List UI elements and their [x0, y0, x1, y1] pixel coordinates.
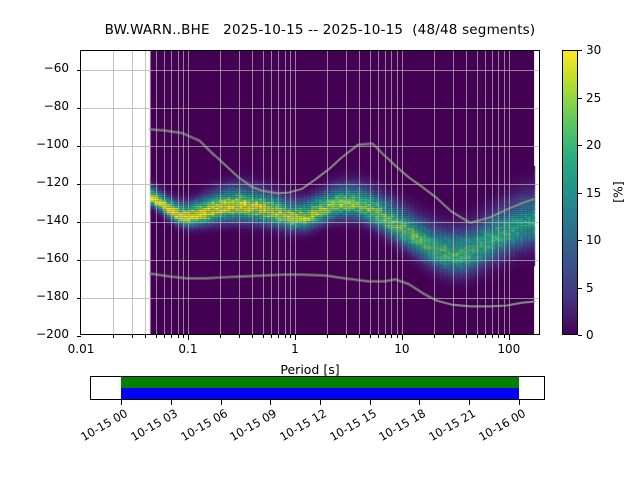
x-gridline [453, 51, 454, 334]
x-axis-tick [113, 334, 114, 338]
x-axis-tick [385, 334, 386, 338]
x-gridline [492, 51, 493, 334]
x-axis-tick [498, 334, 499, 338]
x-axis-tick [477, 334, 478, 338]
timeline-tick-label: 10-15 03 [121, 406, 180, 448]
x-gridline [271, 51, 272, 334]
x-gridline [346, 51, 347, 334]
timeline-tick [221, 400, 222, 405]
x-gridline [434, 51, 435, 334]
x-axis-tick [327, 334, 328, 338]
y-axis-tick [77, 184, 81, 185]
x-axis-tick [178, 334, 179, 338]
x-axis-tick-label: 1 [291, 342, 299, 356]
x-axis-tick [370, 334, 371, 338]
timeline-tick [320, 400, 321, 405]
x-gridline [477, 51, 478, 334]
ppsd-plot-area [81, 51, 539, 334]
x-gridline [178, 51, 179, 334]
colorbar-tick [578, 193, 582, 194]
timeline-segment-psd-segments [121, 388, 519, 399]
x-axis-tick [188, 334, 189, 340]
colorbar-tick [578, 98, 582, 99]
timeline-tick-label: 10-15 09 [220, 406, 279, 448]
x-axis-tick [156, 334, 157, 338]
x-gridline [509, 51, 510, 334]
y-gridline [81, 222, 539, 223]
x-axis-tick [485, 334, 486, 338]
colorbar-tick-label: 0 [586, 328, 594, 342]
timeline-segment-data-coverage [121, 377, 519, 388]
x-gridline [466, 51, 467, 334]
x-axis-tick-label: 0.01 [68, 342, 95, 356]
x-axis-tick [271, 334, 272, 338]
ppsd-histogram-canvas [81, 51, 539, 334]
y-gridline [81, 108, 539, 109]
timeline-tick [270, 400, 271, 405]
x-gridline [156, 51, 157, 334]
x-axis-tick [145, 334, 146, 338]
timeline-tick [171, 400, 172, 405]
x-axis-tick [239, 334, 240, 338]
y-axis-tick [77, 260, 81, 261]
colorbar-tick [578, 50, 582, 51]
timeline-tick-label: 10-15 06 [171, 406, 230, 448]
y-gridline [81, 70, 539, 71]
x-axis-tick [346, 334, 347, 338]
y-axis-tick [77, 298, 81, 299]
colorbar-tick-label: 5 [586, 281, 594, 295]
timeline-tick [419, 400, 420, 405]
y-gridline [81, 146, 539, 147]
timeline-tick-label: 10-15 00 [71, 406, 130, 448]
y-gridline [81, 184, 539, 185]
ppsd-figure: BW.WARN..BHE 2025-10-15 -- 2025-10-15 (4… [0, 0, 640, 480]
colorbar-tick-label: 25 [586, 91, 601, 105]
x-gridline [164, 51, 165, 334]
x-gridline [385, 51, 386, 334]
colorbar-tick-label: 10 [586, 233, 601, 247]
colorbar-title: [%] [611, 181, 626, 203]
x-axis-tick [397, 334, 398, 338]
x-gridline [183, 51, 184, 334]
colorbar-tick [578, 288, 582, 289]
x-axis-tick [252, 334, 253, 338]
x-axis-tick [263, 334, 264, 338]
x-gridline [145, 51, 146, 334]
x-gridline [171, 51, 172, 334]
x-gridline [485, 51, 486, 334]
figure-title: BW.WARN..BHE 2025-10-15 -- 2025-10-15 (4… [0, 22, 640, 38]
colorbar [562, 50, 578, 335]
x-gridline [498, 51, 499, 334]
x-axis-tick [391, 334, 392, 338]
timeline-tick [519, 400, 520, 405]
x-axis-tick [290, 334, 291, 338]
timeline-axes [90, 376, 545, 400]
x-axis-tick-label: 100 [497, 342, 520, 356]
x-axis-tick-label: 10 [394, 342, 409, 356]
x-gridline [327, 51, 328, 334]
timeline-tick [469, 400, 470, 405]
x-axis-tick [164, 334, 165, 338]
timeline-tick-label: 10-15 15 [320, 406, 379, 448]
y-axis-tick [77, 70, 81, 71]
x-gridline [359, 51, 360, 334]
timeline-tick [370, 400, 371, 405]
timeline-tick-label: 10-15 12 [270, 406, 329, 448]
x-gridline [295, 51, 296, 334]
x-gridline [370, 51, 371, 334]
x-gridline [220, 51, 221, 334]
x-axis-tick [504, 334, 505, 338]
x-axis-tick [132, 334, 133, 338]
x-gridline [278, 51, 279, 334]
x-gridline [263, 51, 264, 334]
x-axis-tick [378, 334, 379, 338]
x-gridline [391, 51, 392, 334]
colorbar-tick-label: 20 [586, 138, 601, 152]
x-gridline [188, 51, 189, 334]
timeline-tick-label: 10-15 18 [369, 406, 428, 448]
x-axis-tick [285, 334, 286, 338]
x-gridline [285, 51, 286, 334]
y-axis-tick [77, 336, 81, 337]
x-axis-tick [492, 334, 493, 338]
x-gridline [252, 51, 253, 334]
x-axis-tick [402, 334, 403, 340]
colorbar-tick-label: 15 [586, 186, 601, 200]
x-axis-tick [278, 334, 279, 338]
x-gridline [239, 51, 240, 334]
x-gridline [132, 51, 133, 334]
y-axis-tick [77, 108, 81, 109]
timeline-tick-label: 10-16 00 [469, 406, 528, 448]
x-gridline [397, 51, 398, 334]
x-gridline [504, 51, 505, 334]
colorbar-tick [578, 335, 582, 336]
x-gridline [378, 51, 379, 334]
x-axis-title: Period [s] [80, 362, 540, 377]
ppsd-axes: −60−80−100−120−140−160−180−2000.010.1110… [80, 50, 540, 335]
x-axis-tick [171, 334, 172, 338]
x-gridline [113, 51, 114, 334]
y-gridline [81, 298, 539, 299]
x-axis-tick [453, 334, 454, 338]
y-axis-tick [77, 222, 81, 223]
timeline-tick [121, 400, 122, 405]
y-axis-tick [77, 146, 81, 147]
x-gridline [290, 51, 291, 334]
colorbar-tick [578, 145, 582, 146]
x-axis-tick [220, 334, 221, 338]
x-axis-tick [509, 334, 510, 340]
y-gridline [81, 260, 539, 261]
x-axis-tick [466, 334, 467, 338]
x-axis-tick-label: 0.1 [178, 342, 197, 356]
x-axis-tick [295, 334, 296, 340]
x-axis-tick [434, 334, 435, 338]
x-axis-tick [359, 334, 360, 338]
colorbar-tick-label: 30 [586, 43, 601, 57]
x-gridline [402, 51, 403, 334]
x-axis-tick [183, 334, 184, 338]
timeline-tick-label: 10-15 21 [419, 406, 478, 448]
colorbar-tick [578, 240, 582, 241]
